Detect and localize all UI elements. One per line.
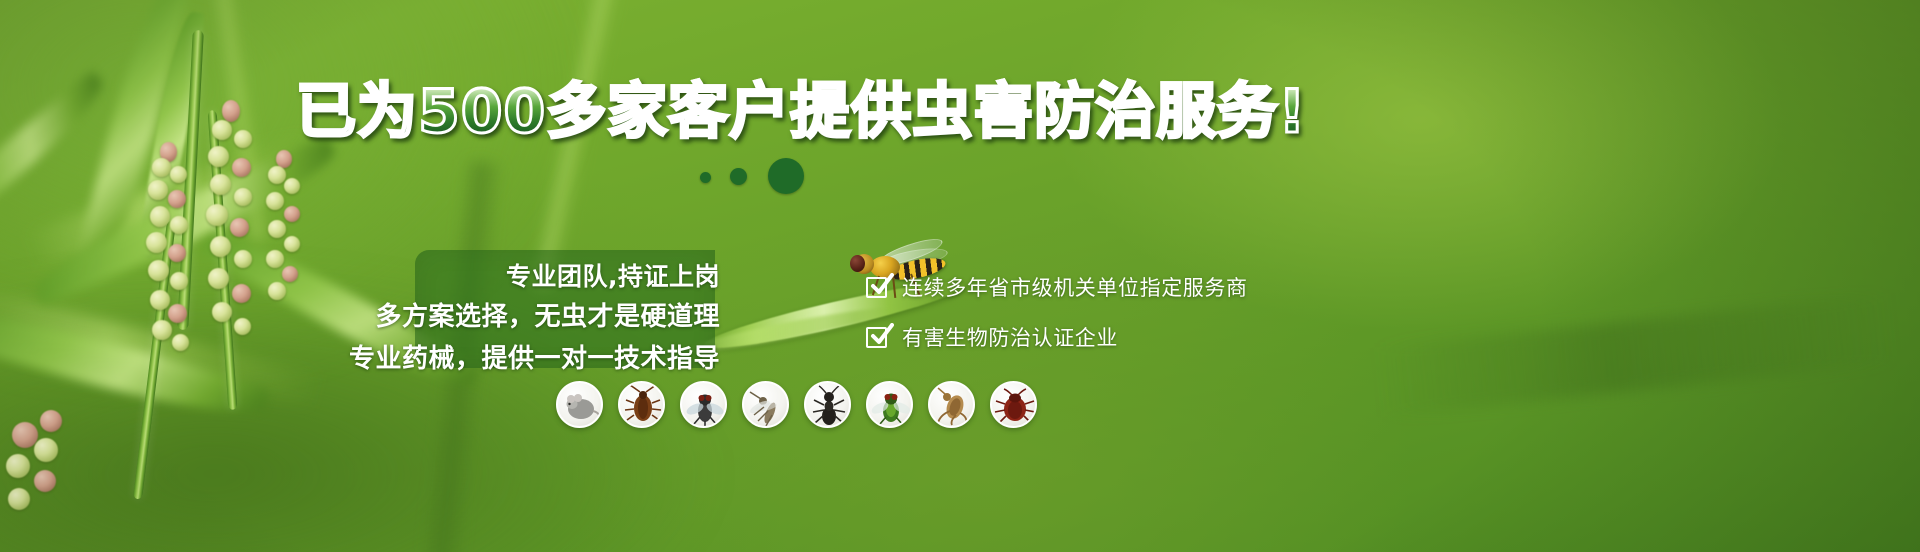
promo-banner: 已为500多家客户提供虫害防治服务! 已为500多家客户提供虫害防治服务! 专业…	[0, 0, 1920, 552]
vignette-overlay	[0, 0, 1920, 552]
